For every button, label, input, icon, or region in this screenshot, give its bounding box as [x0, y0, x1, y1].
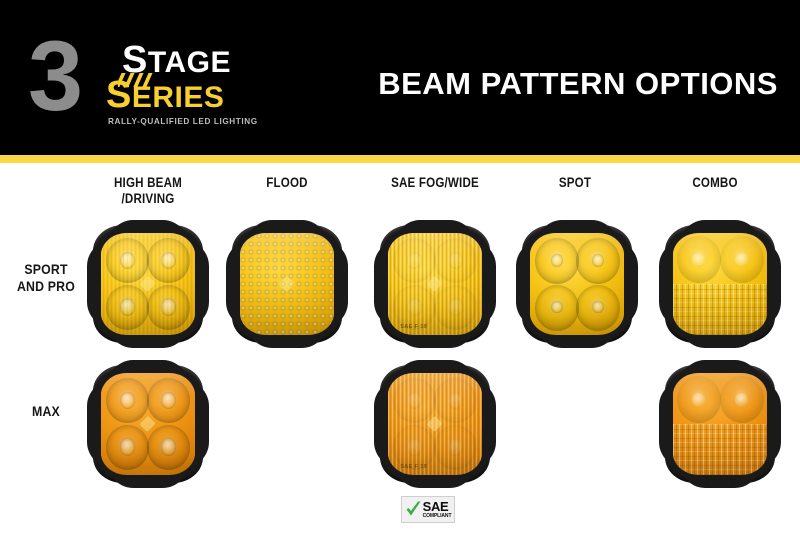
row-label-max: MAX: [6, 403, 87, 420]
sae-compliant-badge: SAE COMPLIANT: [401, 496, 455, 523]
lens-sheen: [673, 373, 767, 475]
lens-graphic: [93, 225, 203, 343]
logo-numeral-3: 3: [28, 30, 78, 122]
lens-max-combo[interactable]: [665, 365, 775, 483]
logo-tagline: RALLY-QUALIFIED LED LIGHTING: [108, 117, 258, 126]
lens-sport-high-beam-driving[interactable]: [93, 225, 203, 343]
lens-sheen: [101, 373, 195, 475]
column-header-line1: COMBO: [651, 175, 780, 191]
lens-glass: SAE F 19: [388, 233, 482, 335]
lens-graphic: [93, 365, 203, 483]
lens-max-sae-fog-wide[interactable]: SAE F 19: [380, 365, 490, 483]
row-label-line1: MAX: [6, 403, 87, 420]
lens-sheen: [101, 233, 195, 335]
column-header-spot: SPOT: [511, 175, 640, 191]
row-label-sport-and-pro: SPORT AND PRO: [6, 261, 87, 295]
lens-sheen: [388, 233, 482, 335]
stage-series-logo: 3 STAGE SERIES RALLY-QUALIFIED LED LIGHT…: [28, 32, 243, 124]
column-header-line1: FLOOD: [223, 175, 352, 191]
column-header-combo: COMBO: [651, 175, 780, 191]
lens-sport-spot[interactable]: [522, 225, 632, 343]
lens-glass: [101, 373, 195, 475]
lens-sheen: [388, 373, 482, 475]
lens-sae-marking: SAE F 19: [400, 324, 427, 330]
lens-glass: [673, 233, 767, 335]
sae-badge-subtitle: COMPLIANT: [423, 514, 452, 519]
logo-word-series: SERIES: [106, 76, 224, 114]
lens-graphic: SAE F 19: [380, 365, 490, 483]
beam-pattern-options-page: 3 STAGE SERIES RALLY-QUALIFIED LED LIGHT…: [0, 0, 800, 533]
lens-graphic: [232, 225, 342, 343]
lens-sheen: [673, 233, 767, 335]
lens-sheen: [240, 233, 334, 335]
lens-sport-sae-fog-wide[interactable]: SAE F 19: [380, 225, 490, 343]
lens-glass: [101, 233, 195, 335]
column-header-line1: SAE FOG/WIDE: [362, 175, 508, 191]
page-title: BEAM PATTERN OPTIONS: [378, 66, 778, 102]
sae-badge-title: SAE: [423, 500, 449, 513]
lens-glass: SAE F 19: [388, 373, 482, 475]
checkmark-icon: [405, 500, 422, 519]
sae-badge-text: SAE COMPLIANT: [423, 500, 452, 519]
column-header-line1: SPOT: [511, 175, 640, 191]
header-bar: 3 STAGE SERIES RALLY-QUALIFIED LED LIGHT…: [0, 0, 800, 155]
lens-sheen: [530, 233, 624, 335]
column-header-line2: /DRIVING: [84, 191, 213, 207]
lens-graphic: SAE F 19: [380, 225, 490, 343]
lens-max-high-beam-driving[interactable]: [93, 365, 203, 483]
row-label-line2: AND PRO: [6, 278, 87, 295]
lens-sport-combo[interactable]: [665, 225, 775, 343]
column-header-flood: FLOOD: [223, 175, 352, 191]
lens-sport-flood[interactable]: [232, 225, 342, 343]
lens-sae-marking: SAE F 19: [400, 464, 427, 470]
beam-pattern-grid: HIGH BEAM /DRIVING FLOOD SAE FOG/WIDE SP…: [0, 163, 800, 533]
column-header-line1: HIGH BEAM: [84, 175, 213, 191]
header-accent-rule: [0, 155, 800, 163]
column-header-high-beam-driving: HIGH BEAM /DRIVING: [84, 175, 213, 207]
lens-glass: [673, 373, 767, 475]
lens-glass: [240, 233, 334, 335]
row-label-line1: SPORT: [6, 261, 87, 278]
lens-glass: [530, 233, 624, 335]
column-header-sae-fog-wide: SAE FOG/WIDE: [362, 175, 508, 191]
lens-graphic: [665, 225, 775, 343]
lens-graphic: [522, 225, 632, 343]
lens-graphic: [665, 365, 775, 483]
